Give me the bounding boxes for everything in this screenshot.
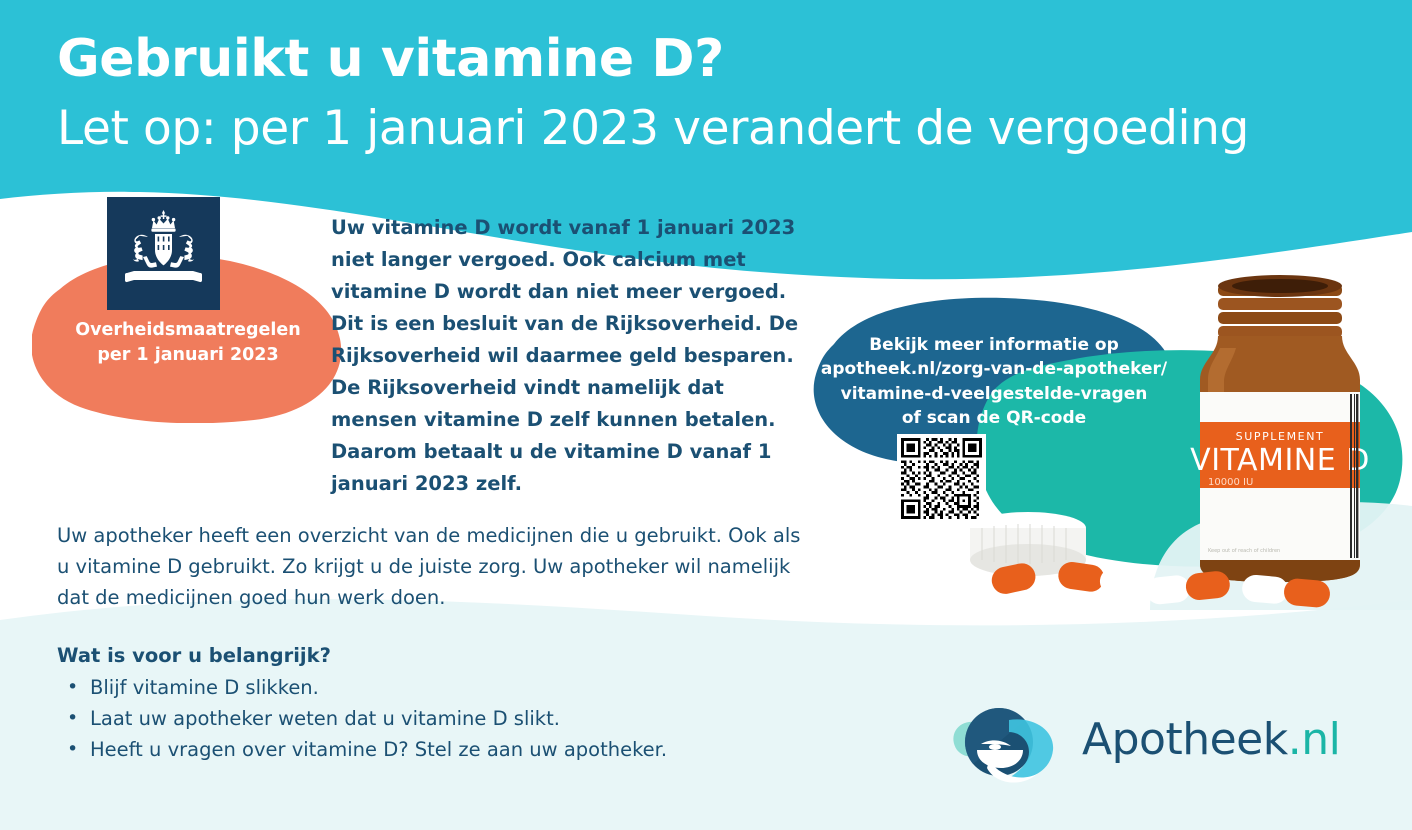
qr-code-icon[interactable] [897,434,986,523]
bubble-line-1: Bekijk meer informatie op [818,333,1170,357]
header: Gebruikt u vitamine D? Let op: per 1 jan… [0,0,1412,185]
page-title-line2: Let op: per 1 januari 2023 verandert de … [57,105,1249,152]
bullets-list: Blijf vitamine D slikken. Laat uw apothe… [57,673,797,765]
poster-canvas: Gebruikt u vitamine D? Let op: per 1 jan… [0,0,1412,830]
label-fineprint: Keep out of reach of children [1208,548,1280,554]
apotheek-logo[interactable]: Apotheek.nl [947,698,1337,790]
label-dose: 10000 IU [1208,477,1253,488]
dutch-coat-of-arms-icon [107,197,220,310]
info-bubble-text: Bekijk meer informatie op apotheek.nl/zo… [818,333,1170,431]
brand-name: Apotheek [1082,714,1288,765]
list-item: Laat uw apotheker weten dat u vitamine D… [57,704,797,735]
bubble-line-3: vitamine-d-veelgestelde-vragen [818,382,1170,406]
product-illustration: SUPPLEMENT VITAMINE D 10000 IU Keep out … [950,270,1412,610]
vitamin-bottle: SUPPLEMENT VITAMINE D 10000 IU Keep out … [1190,275,1370,582]
barcode [1350,394,1358,558]
gov-label-line2: per 1 januari 2023 [32,343,344,368]
apotheek-bowl-of-hygieia-icon [947,698,1077,790]
government-measures-label: Overheidsmaatregelen per 1 januari 2023 [32,318,344,369]
brand-wordmark: Apotheek.nl [1082,714,1340,765]
main-paragraph: Uw vitamine D wordt vanaf 1 januari 2023… [331,212,801,500]
bullets-heading: Wat is voor u belangrijk? [57,644,797,667]
list-item: Heeft u vragen over vitamine D? Stel ze … [57,735,797,766]
brand-tld: .nl [1288,714,1341,765]
bubble-line-4: of scan de QR-code [818,406,1170,430]
list-item: Blijf vitamine D slikken. [57,673,797,704]
page-title-line1: Gebruikt u vitamine D? [57,33,724,85]
label-product-name: VITAMINE D [1190,443,1370,478]
pharmacist-paragraph: Uw apotheker heeft een overzicht van de … [57,520,817,613]
bubble-line-2: apotheek.nl/zorg-van-de-apotheker/ [818,357,1170,381]
label-supplement: SUPPLEMENT [1236,430,1325,443]
important-points-block: Wat is voor u belangrijk? Blijf vitamine… [57,644,797,765]
gov-label-line1: Overheidsmaatregelen [32,318,344,343]
